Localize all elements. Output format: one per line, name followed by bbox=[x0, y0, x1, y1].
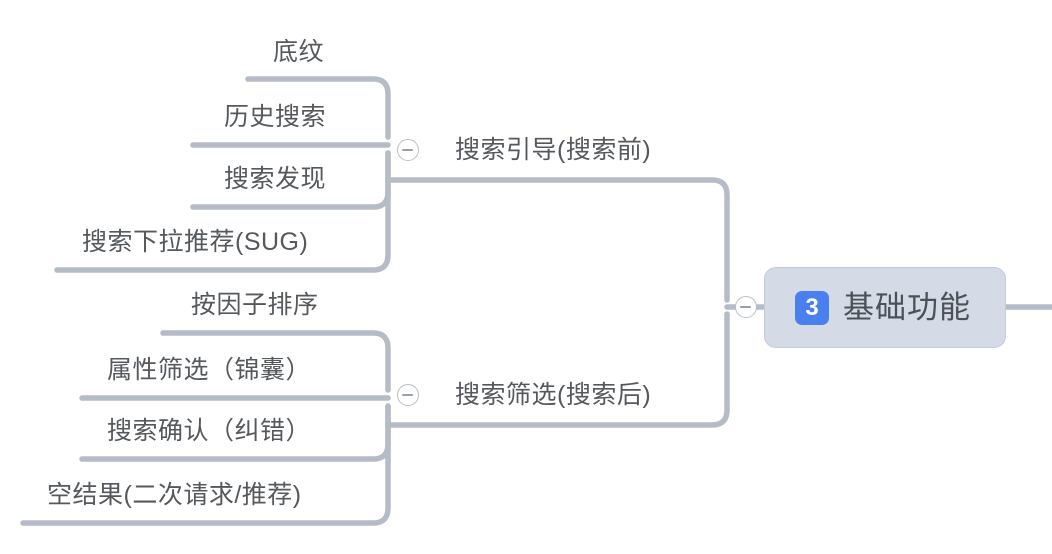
leaf-label: 按因子排序 bbox=[191, 293, 319, 318]
toggle-pre-search[interactable] bbox=[397, 139, 419, 161]
leaf-label: 空结果(二次请求/推荐) bbox=[47, 483, 302, 508]
toggle-root[interactable] bbox=[735, 296, 757, 318]
branch-label-pre-search[interactable]: 搜索引导(搜索前) bbox=[455, 138, 651, 163]
leaf-node[interactable]: 属性筛选（锦囊） bbox=[107, 358, 311, 383]
leaf-node[interactable]: 按因子排序 bbox=[191, 293, 319, 318]
root-label: 基础功能 bbox=[843, 292, 971, 323]
leaf-label: 历史搜索 bbox=[224, 105, 326, 130]
branch-label-post-search[interactable]: 搜索筛选(搜索后) bbox=[455, 383, 651, 408]
mindmap-canvas: 搜索引导(搜索前) 搜索筛选(搜索后) 底纹 历史搜索 搜索发现 搜索下拉推荐(… bbox=[0, 0, 1052, 554]
leaf-node[interactable]: 搜索确认（纠错） bbox=[107, 419, 311, 444]
branch-text: 搜索筛选(搜索后) bbox=[455, 381, 651, 409]
leaf-label: 搜索下拉推荐(SUG) bbox=[82, 230, 308, 255]
leaf-label: 搜索确认（纠错） bbox=[107, 419, 311, 444]
leaf-node[interactable]: 搜索下拉推荐(SUG) bbox=[82, 230, 308, 255]
leaf-label: 属性筛选（锦囊） bbox=[107, 358, 311, 383]
toggle-post-search[interactable] bbox=[397, 384, 419, 406]
root-node[interactable]: 3 基础功能 bbox=[764, 267, 1006, 348]
leaf-label: 底纹 bbox=[273, 40, 324, 65]
leaf-node[interactable]: 底纹 bbox=[273, 40, 324, 65]
leaf-node[interactable]: 空结果(二次请求/推荐) bbox=[47, 483, 302, 508]
leaf-node[interactable]: 搜索发现 bbox=[224, 167, 326, 192]
branch-text: 搜索引导(搜索前) bbox=[455, 136, 651, 164]
root-badge: 3 bbox=[795, 291, 829, 325]
leaf-node[interactable]: 历史搜索 bbox=[224, 105, 326, 130]
leaf-label: 搜索发现 bbox=[224, 167, 326, 192]
